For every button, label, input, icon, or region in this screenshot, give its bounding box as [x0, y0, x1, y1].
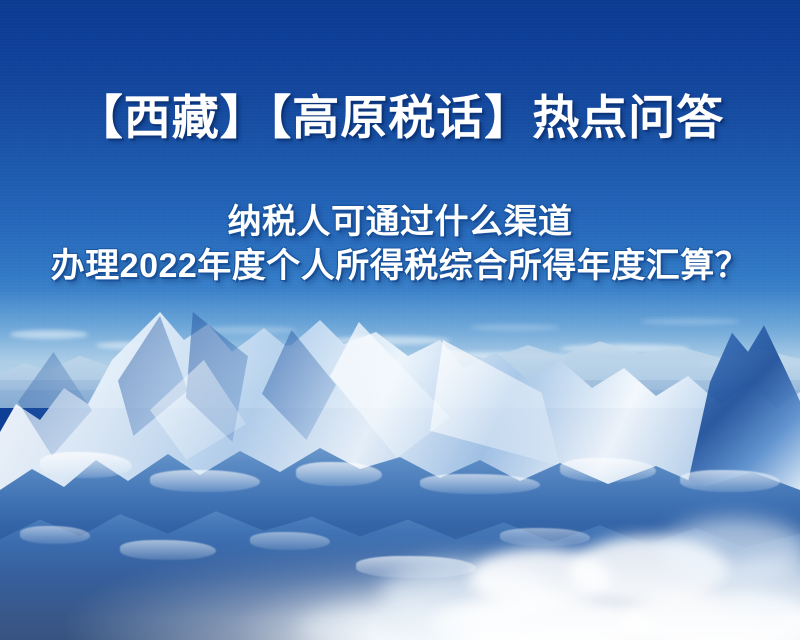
horizon-cloud-streak: [640, 318, 740, 325]
snow-streak: [150, 470, 260, 492]
horizon-cloud-streak: [470, 324, 560, 331]
snow-streak: [420, 474, 540, 494]
snow-streak: [560, 458, 656, 482]
horizon-cloud-streak: [10, 330, 88, 339]
snow-streak: [296, 462, 382, 486]
poster-canvas: 【西藏】【高原税话】热点问答 纳税人可通过什么渠道 办理2022年度个人所得税综…: [0, 0, 800, 640]
snow-streak: [40, 452, 132, 478]
snow-streak: [680, 470, 780, 492]
